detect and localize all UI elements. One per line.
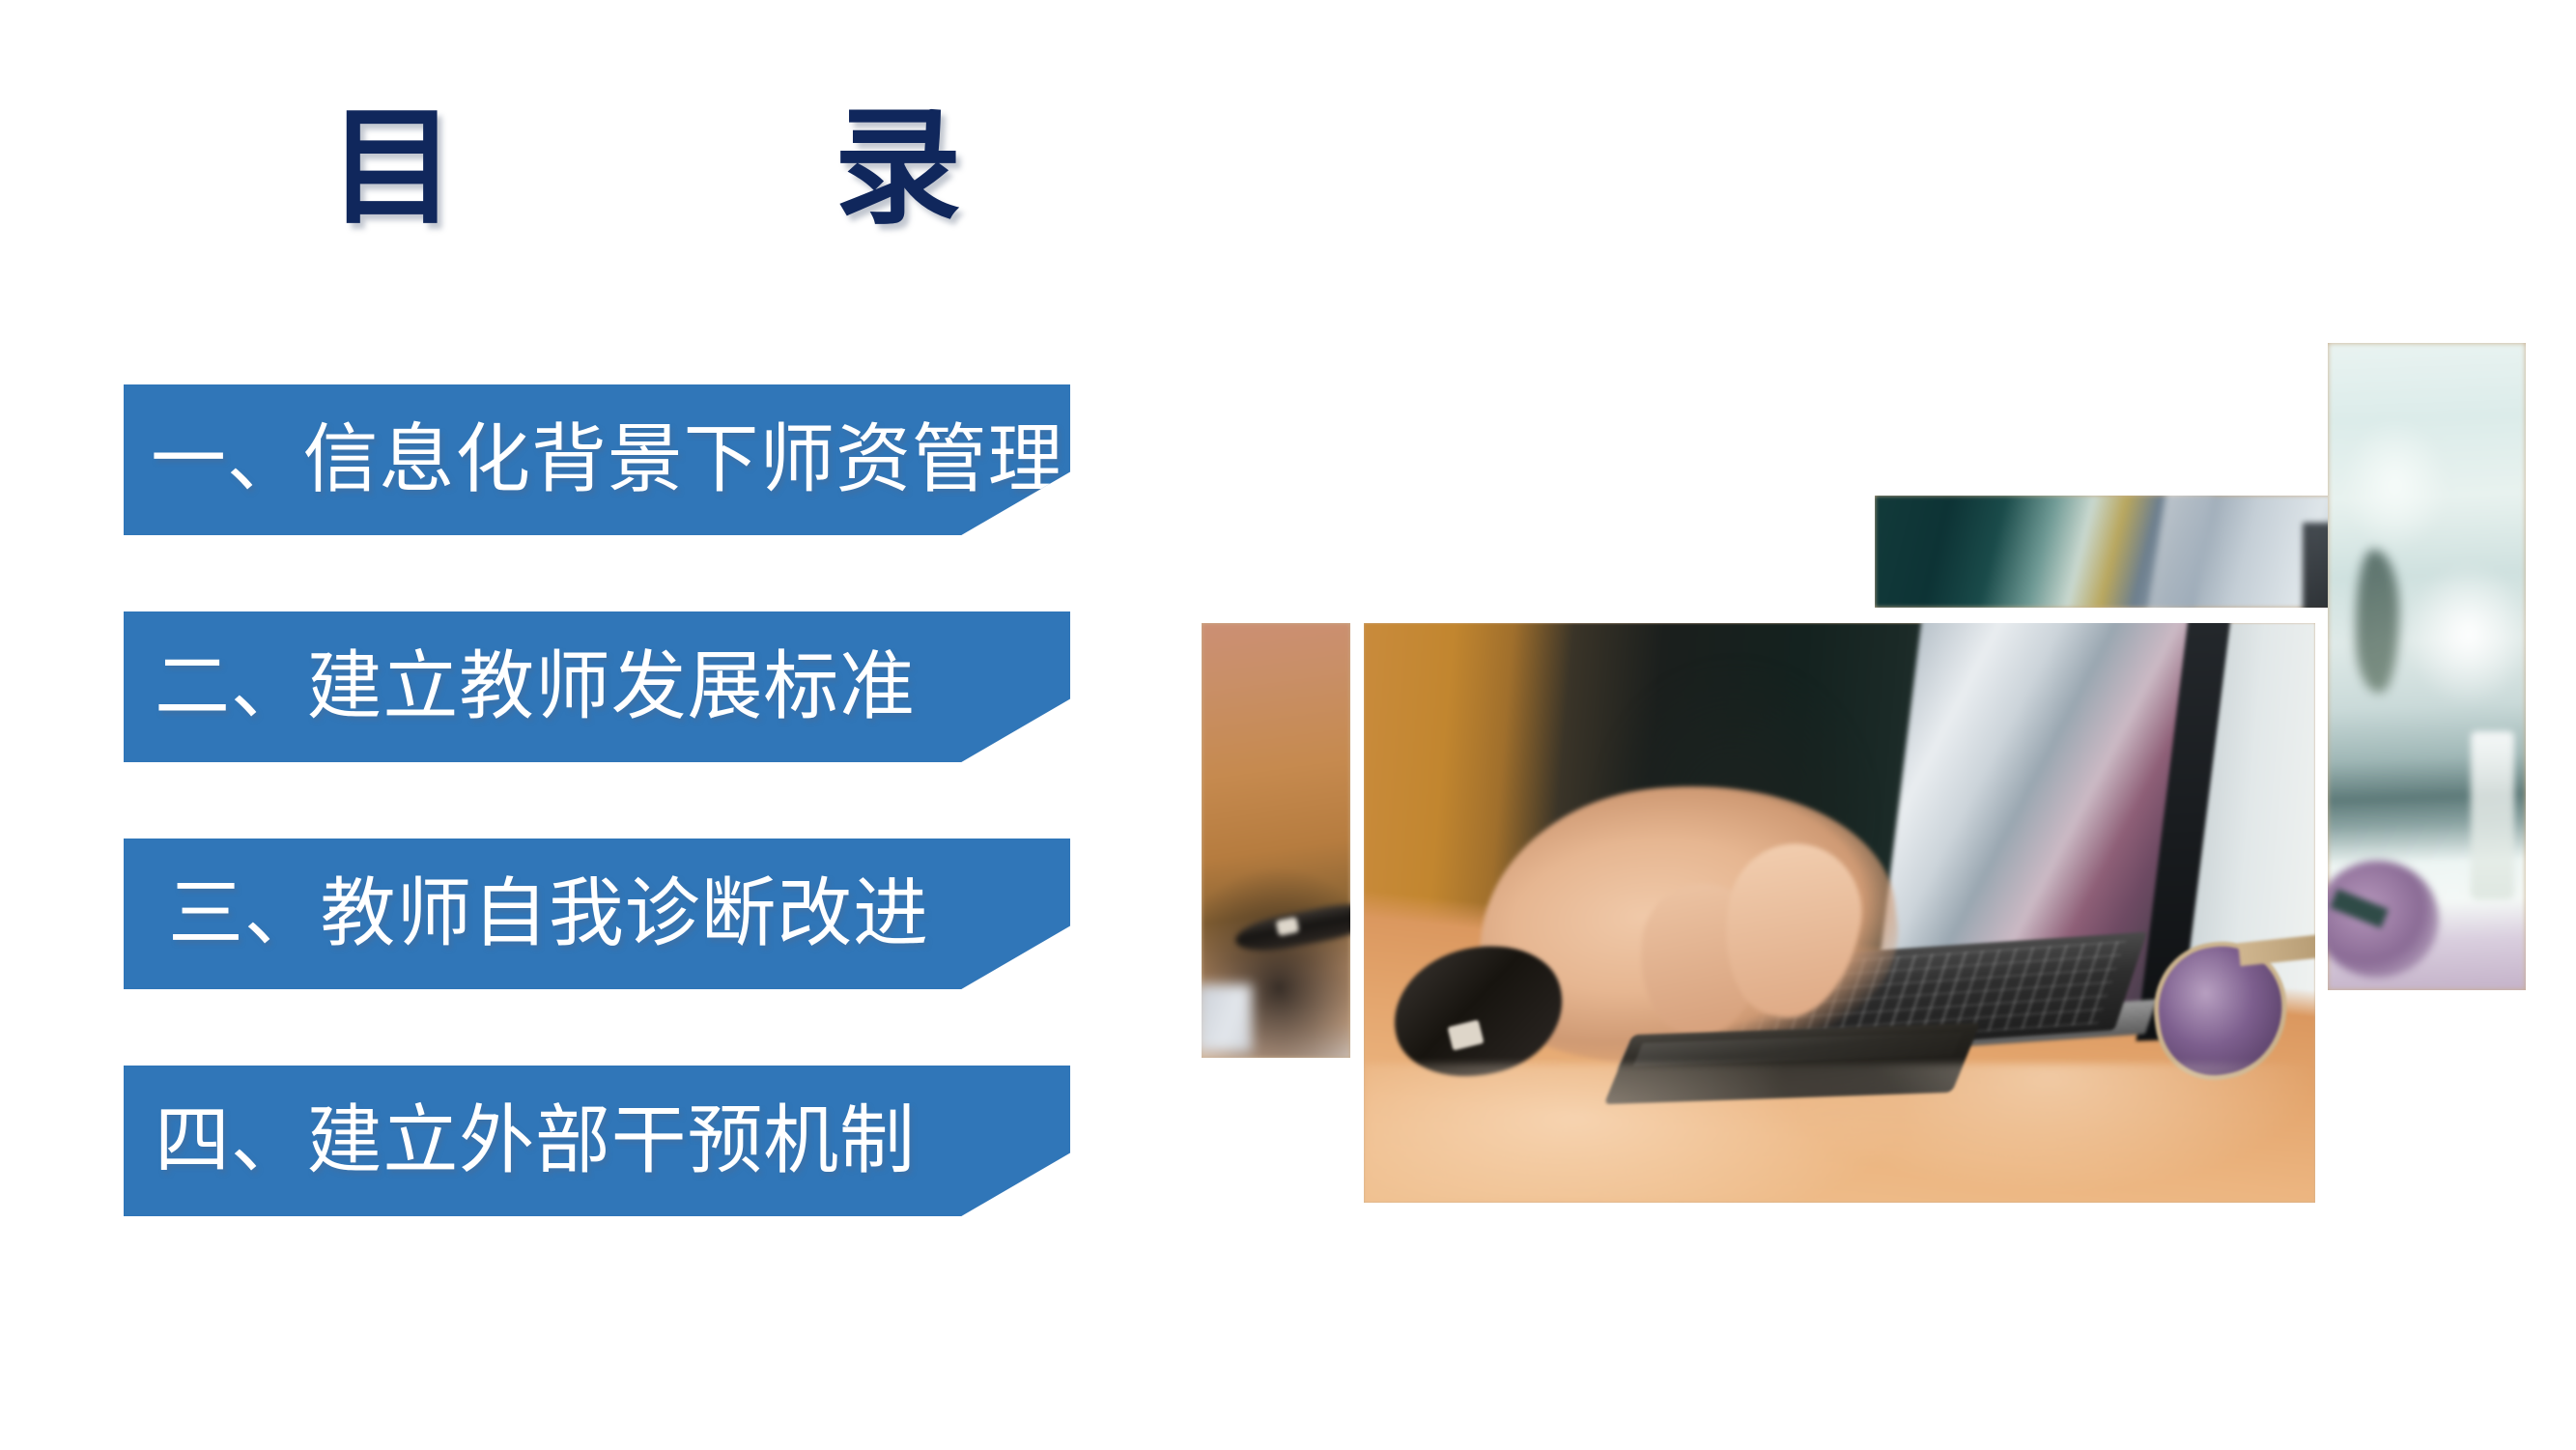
- photo-collage: [1188, 319, 2540, 1227]
- toc-item-4[interactable]: 四、建立外部干预机制: [124, 1066, 1070, 1216]
- toc-item-2-label: 二、建立教师发展标准: [151, 649, 916, 725]
- collage-photo-main: [1364, 623, 2315, 1203]
- photo-main-image: [1364, 623, 2315, 1203]
- bokeh-highlight-shape: [2407, 563, 2526, 705]
- collage-photo-left-strip: [1202, 623, 1350, 1058]
- collage-photo-top-bar: [1875, 496, 2396, 608]
- page-title: 目 录: [328, 104, 964, 232]
- photo-left-strip-image: [1202, 623, 1350, 1058]
- toc-item-3[interactable]: 三、教师自我诊断改进: [124, 839, 1070, 989]
- slide-canvas: 目 录 一、信息化背景下师资管理 二、建立教师发展标准 三、教师自我诊断改进 四…: [0, 0, 2576, 1450]
- photo-top-bar-image: [1875, 496, 2396, 608]
- glassware-shape: [2471, 731, 2514, 899]
- desk-reflection-shape: [1364, 1064, 2315, 1203]
- shirt-cuff-shape: [1202, 984, 1252, 1052]
- sunglasses-arm-shape: [2238, 929, 2315, 966]
- bokeh-highlight-shape: [2343, 420, 2447, 550]
- collage-photo-right-panel: [2328, 343, 2526, 990]
- background-figure-shape: [2356, 550, 2399, 692]
- photo-right-panel-image: [2328, 343, 2526, 990]
- toc-item-4-label: 四、建立外部干预机制: [151, 1103, 916, 1179]
- toc-item-1-label: 一、信息化背景下师资管理: [151, 422, 1063, 498]
- laptop-screen-edge-shape: [2145, 496, 2215, 608]
- toc-item-2[interactable]: 二、建立教师发展标准: [124, 611, 1070, 762]
- toc-item-1[interactable]: 一、信息化背景下师资管理: [124, 384, 1070, 535]
- toc-item-3-label: 三、教师自我诊断改进: [151, 876, 929, 952]
